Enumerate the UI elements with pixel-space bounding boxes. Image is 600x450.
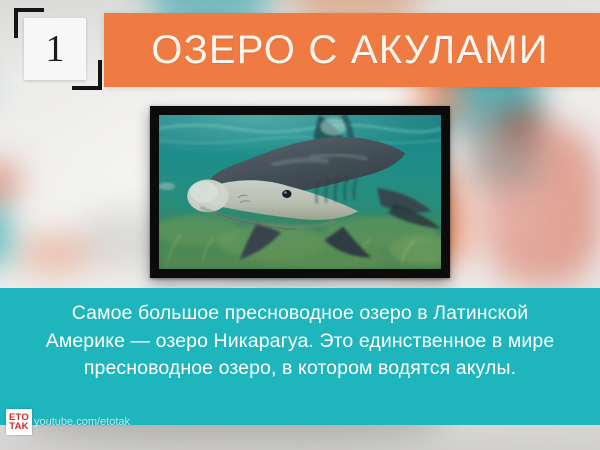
watermark-url: youtube.com/etotak [34, 416, 130, 428]
blob-maroon-right [500, 108, 542, 136]
watermark: ETO TAK youtube.com/etotak [6, 409, 130, 435]
title-band: ОЗЕРО С АКУЛАМИ [104, 13, 600, 87]
caption-band: Самое большое пресноводное озеро в Латин… [0, 288, 600, 425]
photo-frame [150, 106, 450, 278]
page-title: ОЗЕРО С АКУЛАМИ [151, 28, 553, 73]
slide-number-badge: 1 [14, 8, 106, 96]
corner-bracket-bottom-right-icon [72, 60, 102, 90]
caption-text: Самое большое пресноводное озеро в Латин… [30, 300, 570, 383]
blob-teal-left [0, 200, 10, 270]
slide-number-text: 1 [46, 30, 65, 68]
slide-canvas: 1 ОЗЕРО С АКУЛАМИ [0, 0, 600, 450]
shark-photo [159, 115, 441, 269]
etotak-logo-icon: ETO TAK [6, 409, 32, 435]
blob-salmon-left [0, 165, 19, 199]
blob-orange-bottomleft [20, 235, 90, 273]
logo-line-2: TAK [9, 422, 28, 432]
